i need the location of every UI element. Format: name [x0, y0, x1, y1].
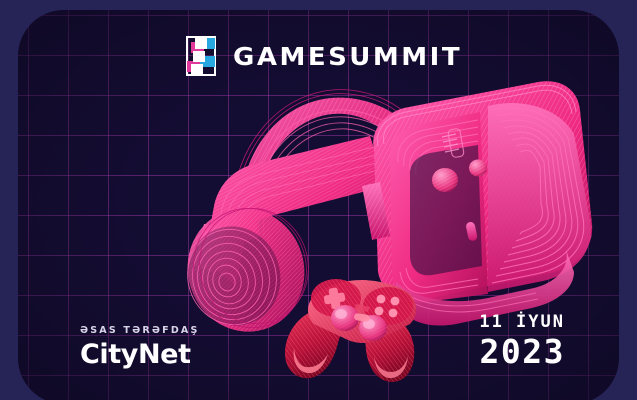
sponsor-name: CityNet: [80, 341, 200, 368]
gamesummit-s-mark-icon: [183, 34, 219, 78]
event-date-block: 11 İYUN 2023: [479, 314, 565, 368]
event-banner: GAMESUMMIT ƏSAS TƏRƏFDAŞ CityNet 11 İYUN…: [0, 0, 637, 400]
gamepad: [285, 279, 416, 382]
gamesummit-logo: GAMESUMMIT: [18, 34, 619, 78]
sponsor-block: ƏSAS TƏRƏFDAŞ CityNet: [80, 325, 200, 368]
event-date-day-month: 11 İYUN: [479, 314, 565, 331]
gamesummit-wordmark: GAMESUMMIT: [233, 44, 462, 69]
event-date-year: 2023: [479, 335, 565, 368]
sponsor-kicker: ƏSAS TƏRƏFDAŞ: [80, 325, 200, 336]
crt-screen: GAMESUMMIT ƏSAS TƏRƏFDAŞ CityNet 11 İYUN…: [18, 10, 619, 400]
